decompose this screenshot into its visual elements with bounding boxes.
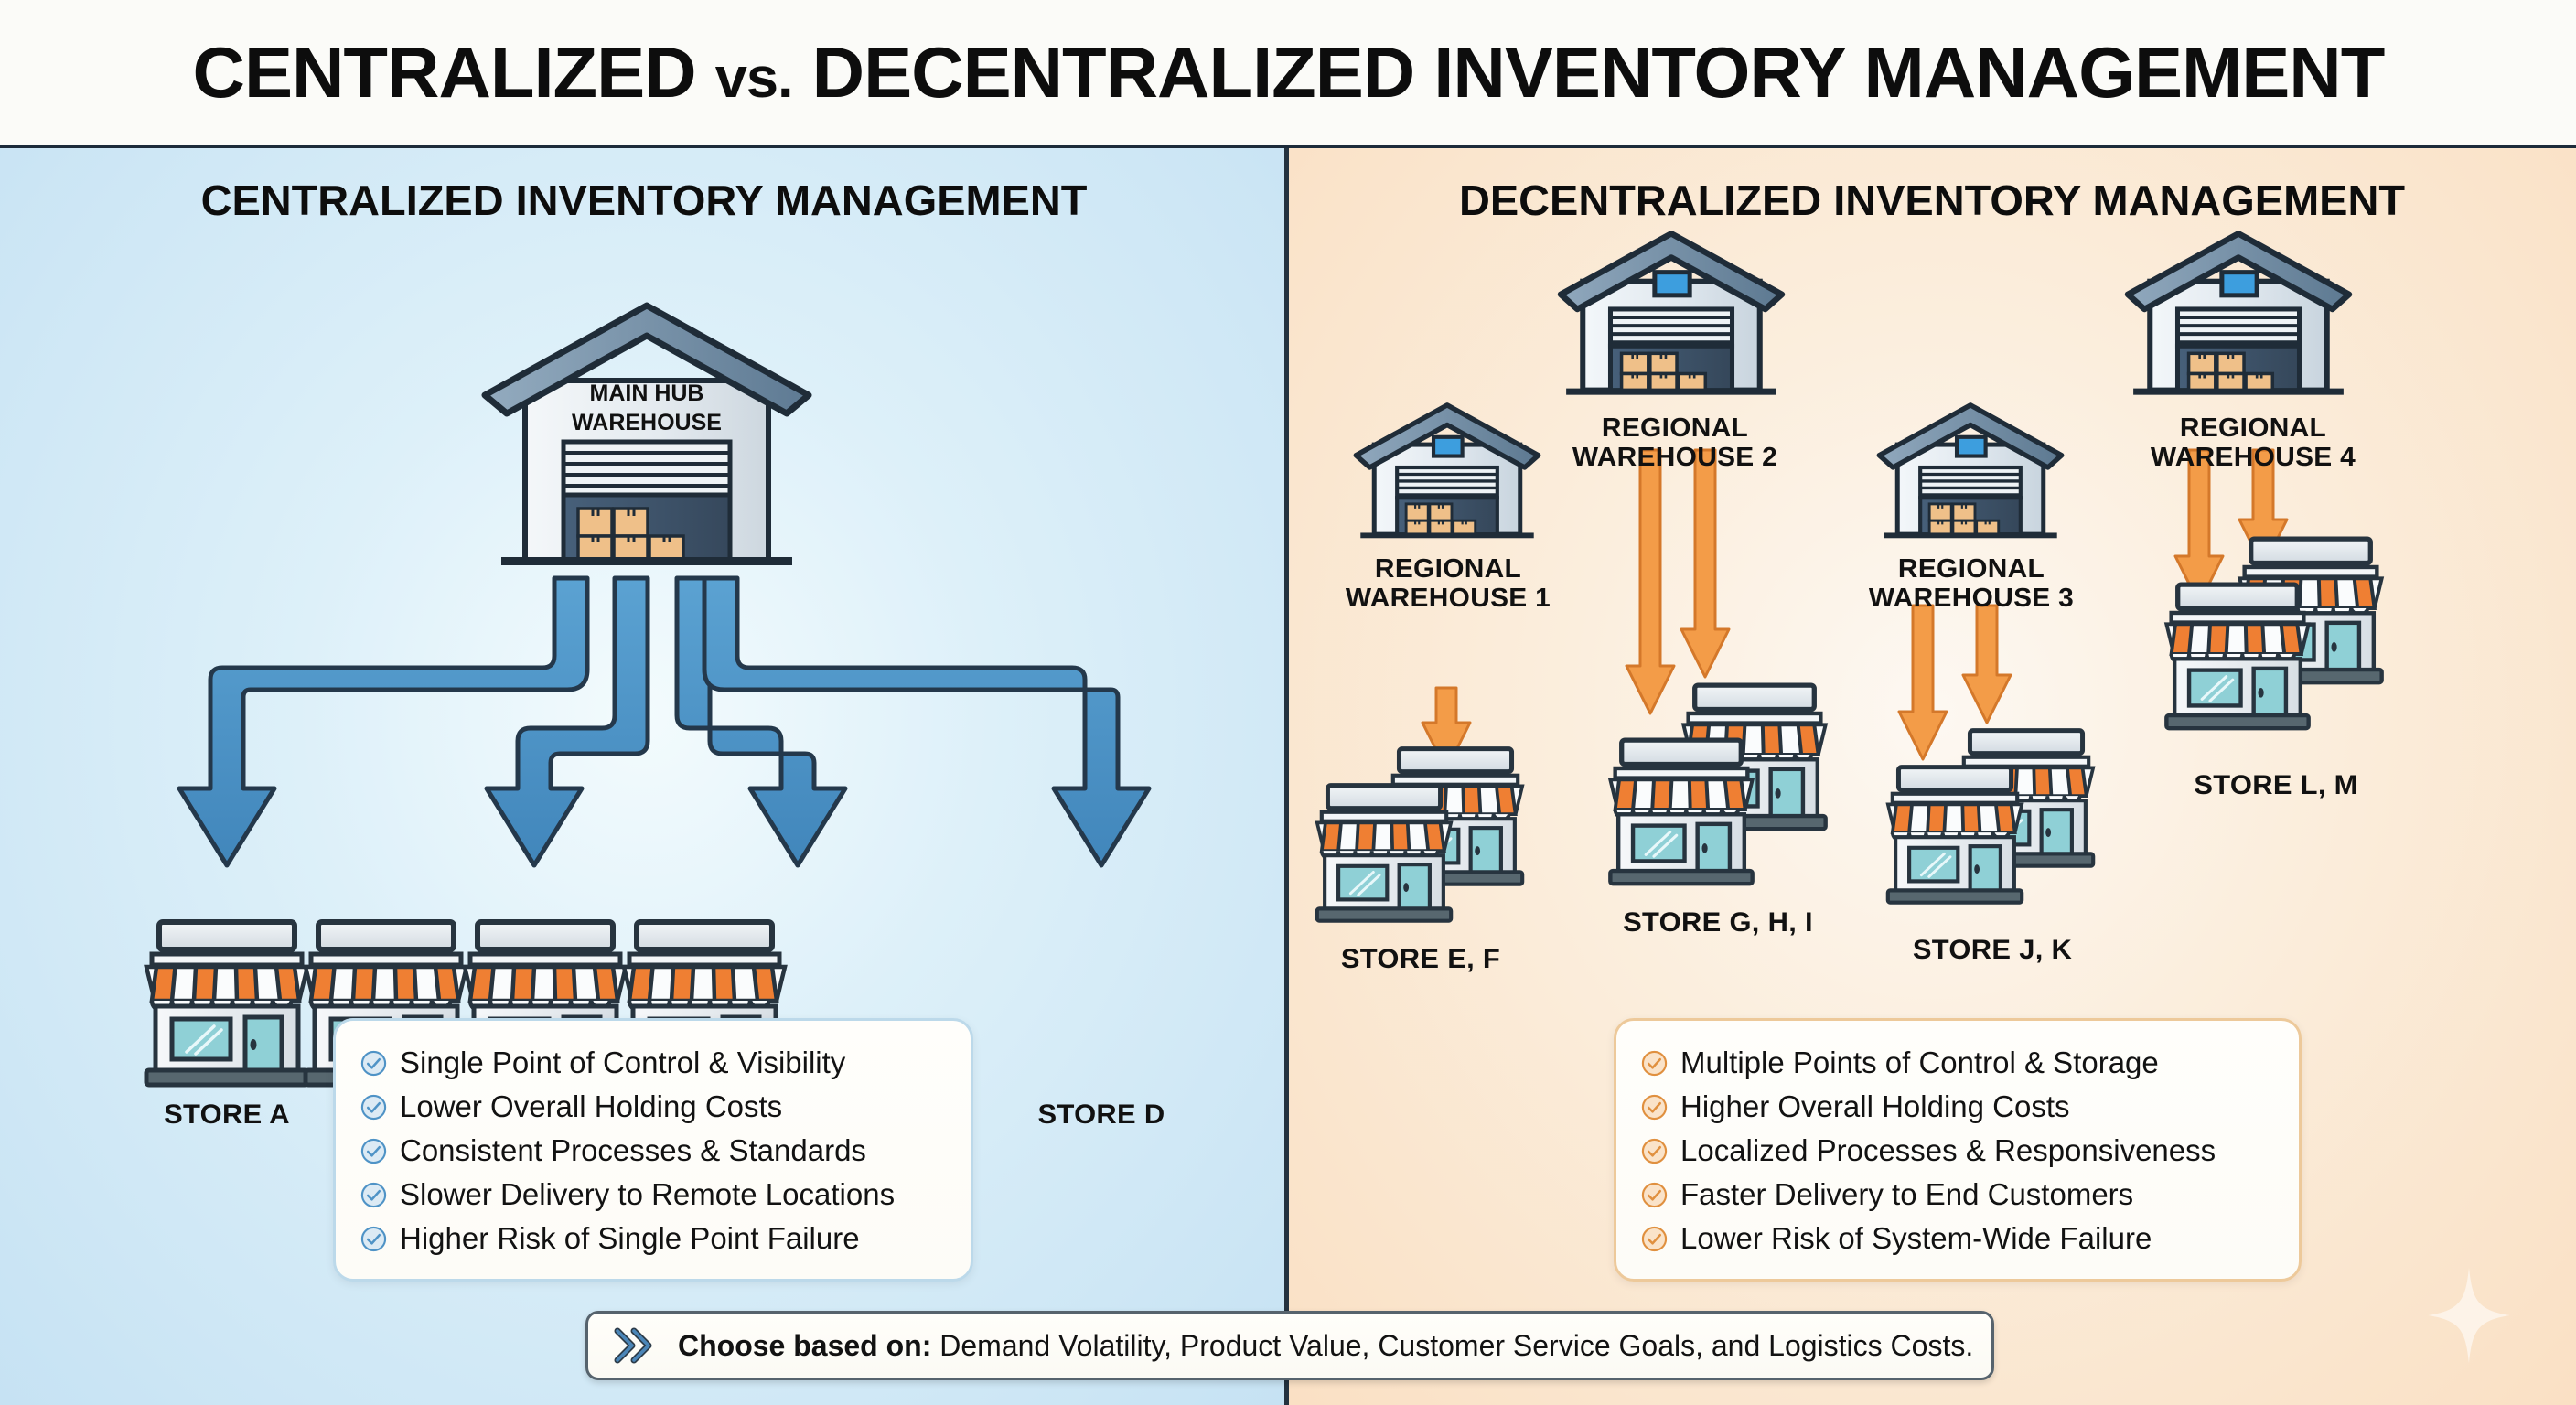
check-circle-icon [1640, 1181, 1669, 1209]
store-label-d: STORE D [1007, 1099, 1196, 1131]
store-icon-group-1-2 [1306, 779, 1462, 928]
hub-label-line1: MAIN HUB [590, 381, 704, 406]
check-circle-icon [360, 1049, 388, 1078]
title-bar: CENTRALIZED vs. DECENTRALIZED INVENTORY … [0, 0, 2576, 148]
store-group-4-label: STORE L, M [2144, 770, 2408, 801]
bullet-text: Lower Risk of System-Wide Failure [1680, 1221, 2152, 1256]
bullet-text: Multiple Points of Control & Storage [1680, 1046, 2159, 1080]
infographic-root: CENTRALIZED vs. DECENTRALIZED INVENTORY … [0, 0, 2576, 1405]
store-group-1-label: STORE E, F [1303, 944, 1539, 975]
bullet-text: Higher Overall Holding Costs [1680, 1089, 2070, 1124]
footer-lead: Choose based on: [678, 1329, 931, 1362]
footer-detail: Demand Volatility, Product Value, Custom… [931, 1329, 1973, 1362]
page-title: CENTRALIZED vs. DECENTRALIZED INVENTORY … [192, 31, 2384, 114]
regional-warehouse-3-arrow-2 [1961, 606, 2012, 724]
list-item: Multiple Points of Control & Storage [1640, 1041, 2275, 1085]
list-item: Lower Overall Holding Costs [360, 1085, 947, 1129]
list-item: Localized Processes & Responsiveness [1640, 1129, 2275, 1173]
title-vs: vs. [714, 47, 792, 110]
regional-warehouse-1-icon [1348, 397, 1546, 547]
regional-warehouse-2-icon [1551, 223, 1791, 406]
store-group-2-label: STORE G, H, I [1586, 907, 1850, 938]
sparkle-icon [2426, 1266, 2512, 1365]
check-circle-icon [1640, 1093, 1669, 1121]
bullet-text: Faster Delivery to End Customers [1680, 1177, 2133, 1212]
check-circle-icon [360, 1093, 388, 1121]
regional-warehouse-1-label: REGIONAL WAREHOUSE 1 [1321, 554, 1575, 614]
footer-banner: Choose based on: Demand Volatility, Prod… [585, 1311, 1994, 1380]
bullet-text: Higher Risk of Single Point Failure [400, 1221, 860, 1256]
list-item: Higher Risk of Single Point Failure [360, 1217, 947, 1260]
double-chevron-right-icon [612, 1325, 660, 1366]
list-item: Lower Risk of System-Wide Failure [1640, 1217, 2275, 1260]
store-icon-group-2-2 [1599, 734, 1764, 892]
regional-warehouse-2-arrow-2 [1680, 450, 1731, 679]
title-part-2: DECENTRALIZED INVENTORY MANAGEMENT [792, 32, 2384, 113]
panel-divider [1284, 148, 1289, 1405]
decentralized-heading: DECENTRALIZED INVENTORY MANAGEMENT [1288, 176, 2576, 225]
check-circle-icon [1640, 1225, 1669, 1253]
check-circle-icon [360, 1181, 388, 1209]
regional-warehouse-3-arrow-1 [1897, 606, 1948, 761]
store-label-a: STORE A [133, 1099, 321, 1131]
list-item: Higher Overall Holding Costs [1640, 1085, 2275, 1129]
title-part-1: CENTRALIZED [192, 32, 714, 113]
bullet-text: Slower Delivery to Remote Locations [400, 1177, 895, 1212]
list-item: Faster Delivery to End Customers [1640, 1173, 2275, 1217]
list-item: Consistent Processes & Standards [360, 1129, 947, 1173]
regional-warehouse-2-arrow-1 [1625, 450, 1676, 715]
hub-label-line2: WAREHOUSE [572, 410, 722, 435]
footer-text: Choose based on: Demand Volatility, Prod… [678, 1329, 1973, 1363]
check-circle-icon [1640, 1049, 1669, 1078]
list-item: Single Point of Control & Visibility [360, 1041, 947, 1085]
list-item: Slower Delivery to Remote Locations [360, 1173, 947, 1217]
regional-warehouse-4-icon [2119, 223, 2358, 406]
bullet-text: Consistent Processes & Standards [400, 1133, 866, 1168]
check-circle-icon [1640, 1137, 1669, 1165]
regional-warehouse-2-label: REGIONAL WAREHOUSE 2 [1548, 413, 1802, 473]
check-circle-icon [360, 1137, 388, 1165]
decentralized-benefits-card: Multiple Points of Control & Storage Hig… [1614, 1018, 2302, 1282]
regional-warehouse-3-label: REGIONAL WAREHOUSE 3 [1844, 554, 2098, 614]
regional-warehouse-4-label: REGIONAL WAREHOUSE 4 [2126, 413, 2380, 473]
check-circle-icon [360, 1225, 388, 1253]
centralized-benefits-card: Single Point of Control & Visibility Low… [333, 1018, 973, 1282]
store-icon-group-4-2 [2155, 578, 2320, 736]
regional-warehouse-3-icon [1872, 397, 2069, 547]
main-hub-warehouse-icon: MAIN HUB WAREHOUSE [468, 293, 825, 595]
bullet-text: Localized Processes & Responsiveness [1680, 1133, 2216, 1168]
bullet-text: Lower Overall Holding Costs [400, 1089, 782, 1124]
store-group-3-label: STORE J, K [1870, 935, 2115, 966]
bullet-text: Single Point of Control & Visibility [400, 1046, 845, 1080]
store-icon-group-3-2 [1877, 761, 2033, 910]
